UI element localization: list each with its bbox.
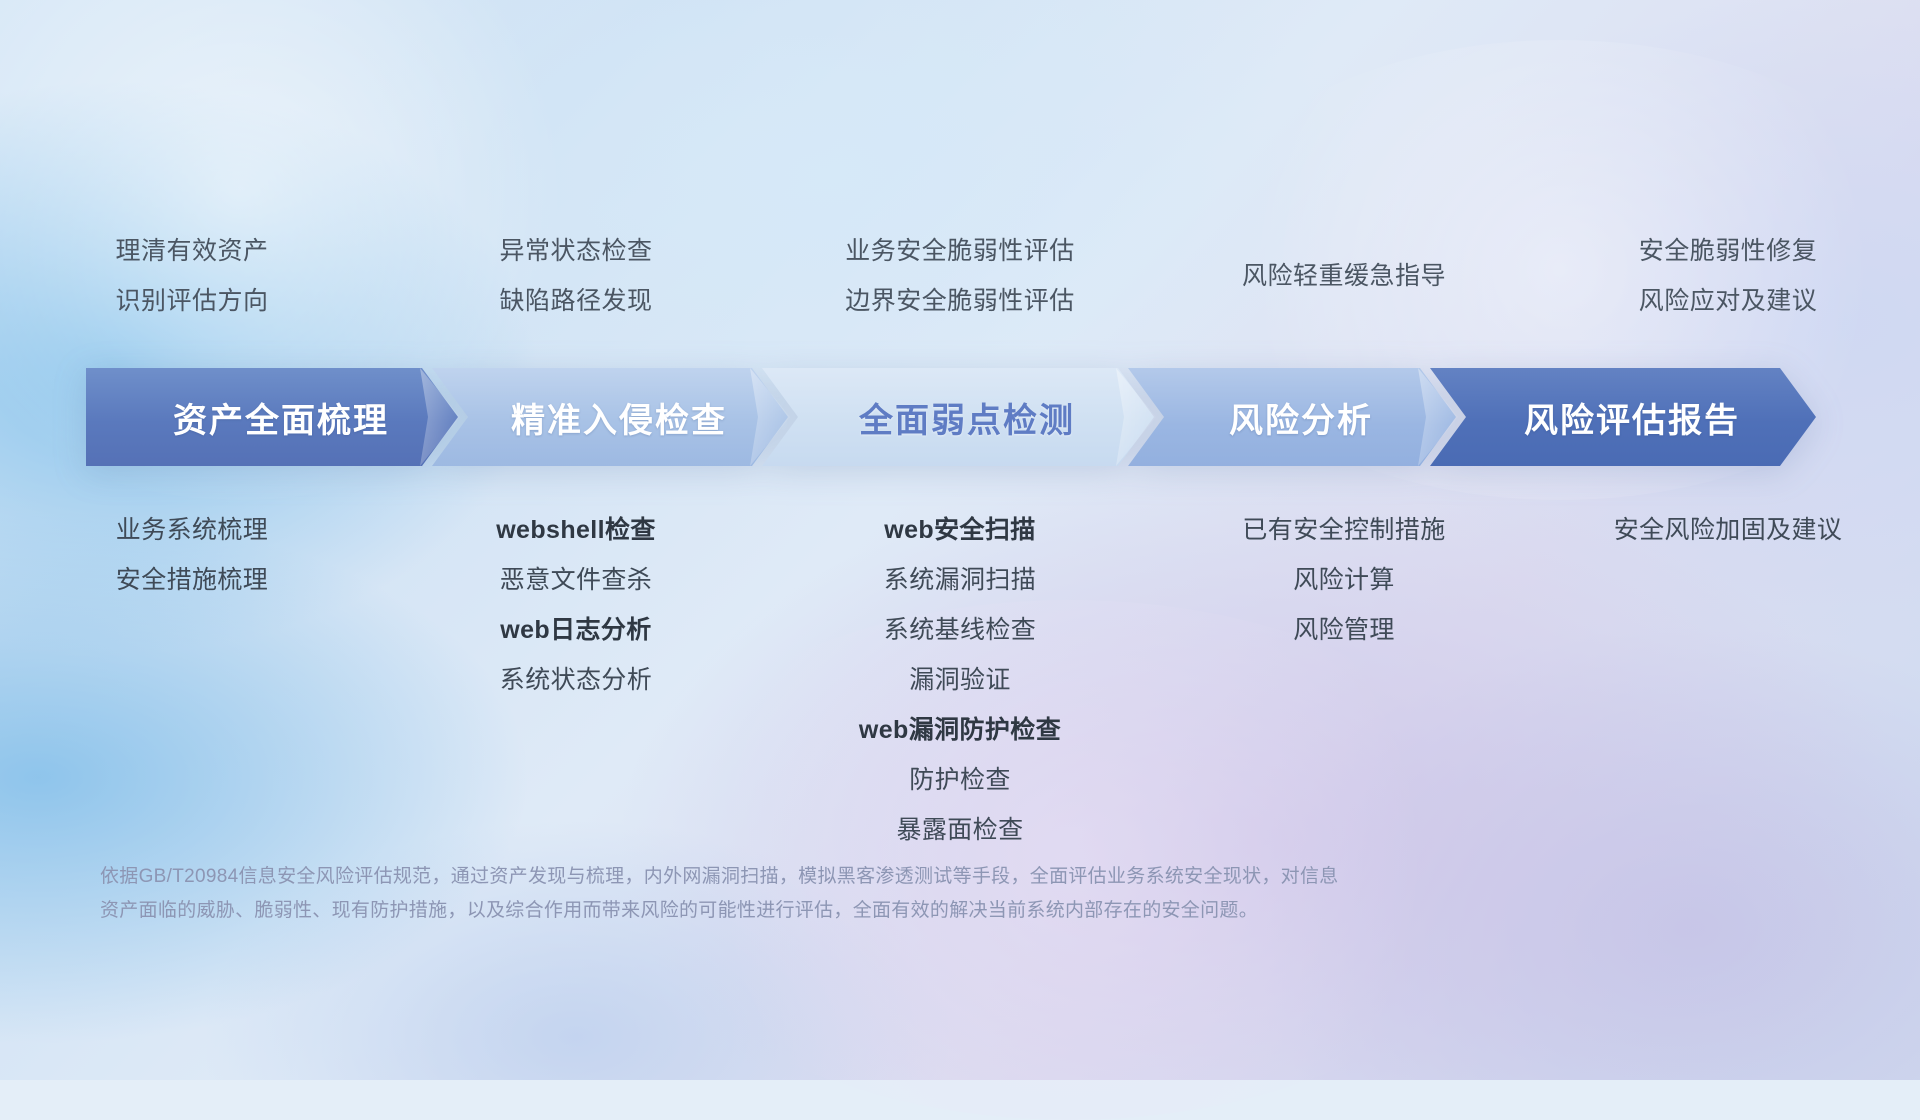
bottom-list-risk-report: 安全风险加固及建议 bbox=[1536, 505, 1920, 555]
list-item: 系统漏洞扫描 bbox=[768, 555, 1152, 605]
list-item: 风险计算 bbox=[1152, 555, 1536, 605]
chevron-step-intrusion-check[interactable]: 精准入侵检查 bbox=[432, 368, 788, 466]
top-labels-row: 理清有效资产 识别评估方向 异常状态检查 缺陷路径发现 业务安全脆弱性评估 边界… bbox=[0, 226, 1920, 326]
footnote-line: 资产面临的威胁、脆弱性、现有防护措施，以及综合作用而带来风险的可能性进行评估，全… bbox=[100, 894, 1660, 928]
footnote-line: 依据GB/T20984信息安全风险评估规范，通过资产发现与梳理，内外网漏洞扫描，… bbox=[100, 860, 1660, 894]
top-label: 边界安全脆弱性评估 bbox=[768, 276, 1152, 326]
list-item: 安全风险加固及建议 bbox=[1536, 505, 1920, 555]
top-labels-weakness-detection: 业务安全脆弱性评估 边界安全脆弱性评估 bbox=[768, 226, 1152, 326]
top-label: 识别评估方向 bbox=[0, 276, 384, 326]
chevron-step-risk-report[interactable]: 风险评估报告 bbox=[1430, 368, 1816, 466]
top-label: 异常状态检查 bbox=[384, 226, 768, 276]
list-item: 防护检查 bbox=[768, 755, 1152, 805]
chevron-step-asset-inventory[interactable]: 资产全面梳理 bbox=[86, 368, 458, 466]
list-item: 暴露面检查 bbox=[768, 805, 1152, 855]
slide-canvas: 理清有效资产 识别评估方向 异常状态检查 缺陷路径发现 业务安全脆弱性评估 边界… bbox=[0, 0, 1920, 1080]
bottom-list-risk-analysis: 已有安全控制措施 风险计算 风险管理 bbox=[1152, 505, 1536, 655]
chevron-label: 资产全面梳理 bbox=[155, 393, 389, 442]
list-item: 恶意文件查杀 bbox=[384, 555, 768, 605]
list-item: web漏洞防护检查 bbox=[768, 705, 1152, 755]
bottom-list-asset-inventory: 业务系统梳理 安全措施梳理 bbox=[0, 505, 384, 605]
footnote: 依据GB/T20984信息安全风险评估规范，通过资产发现与梳理，内外网漏洞扫描，… bbox=[100, 860, 1660, 928]
top-label: 缺陷路径发现 bbox=[384, 276, 768, 326]
process-chevron-banner: 资产全面梳理 精准入侵检查 全面弱点检测 风险分析 风险评估报告 bbox=[86, 368, 1846, 466]
chevron-label: 精准入侵检查 bbox=[493, 393, 727, 442]
list-item: web安全扫描 bbox=[768, 505, 1152, 555]
bottom-list-weakness-detection: web安全扫描 系统漏洞扫描 系统基线检查 漏洞验证 web漏洞防护检查 防护检… bbox=[768, 505, 1152, 855]
top-labels-risk-report: 安全脆弱性修复 风险应对及建议 bbox=[1536, 226, 1920, 326]
top-label: 风险轻重缓急指导 bbox=[1152, 226, 1536, 326]
top-labels-asset-inventory: 理清有效资产 识别评估方向 bbox=[0, 226, 384, 326]
top-label: 风险应对及建议 bbox=[1536, 276, 1920, 326]
chevron-label: 全面弱点检测 bbox=[841, 393, 1075, 442]
list-item: 风险管理 bbox=[1152, 605, 1536, 655]
list-item: 系统基线检查 bbox=[768, 605, 1152, 655]
list-item: 系统状态分析 bbox=[384, 655, 768, 705]
top-label: 安全脆弱性修复 bbox=[1536, 226, 1920, 276]
list-item: 已有安全控制措施 bbox=[1152, 505, 1536, 555]
chevron-label: 风险分析 bbox=[1211, 393, 1373, 442]
chevron-step-risk-analysis[interactable]: 风险分析 bbox=[1128, 368, 1456, 466]
bottom-lists-row: 业务系统梳理 安全措施梳理 webshell检查 恶意文件查杀 web日志分析 … bbox=[0, 505, 1920, 855]
top-labels-intrusion-check: 异常状态检查 缺陷路径发现 bbox=[384, 226, 768, 326]
list-item: 业务系统梳理 bbox=[0, 505, 384, 555]
list-item: 安全措施梳理 bbox=[0, 555, 384, 605]
list-item: 漏洞验证 bbox=[768, 655, 1152, 705]
list-item: web日志分析 bbox=[384, 605, 768, 655]
chevron-label: 风险评估报告 bbox=[1506, 393, 1740, 442]
list-item: webshell检查 bbox=[384, 505, 768, 555]
top-label: 理清有效资产 bbox=[0, 226, 384, 276]
chevron-step-weakness-detection[interactable]: 全面弱点检测 bbox=[762, 368, 1154, 466]
top-labels-risk-analysis: 风险轻重缓急指导 bbox=[1152, 226, 1536, 326]
top-label: 业务安全脆弱性评估 bbox=[768, 226, 1152, 276]
bottom-list-intrusion-check: webshell检查 恶意文件查杀 web日志分析 系统状态分析 bbox=[384, 505, 768, 705]
